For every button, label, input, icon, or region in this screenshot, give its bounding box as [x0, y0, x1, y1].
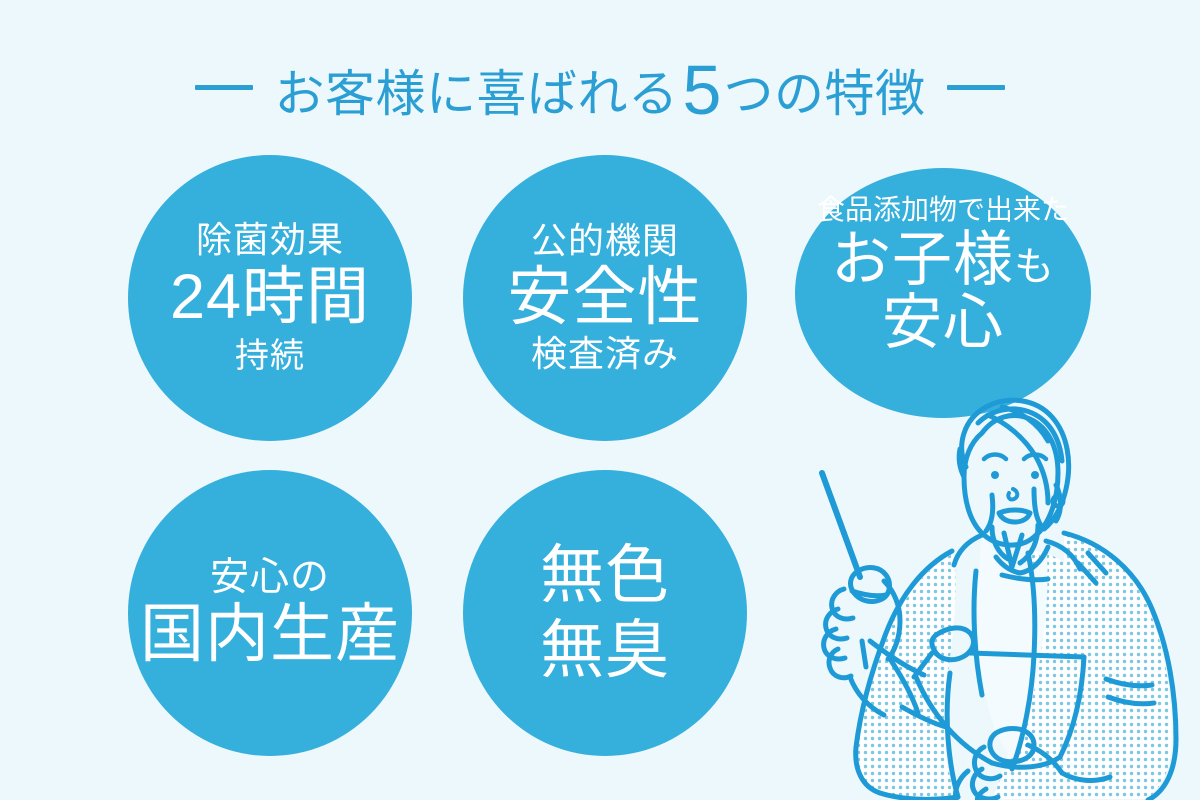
feature-1-bottom-label: 持続 — [235, 339, 305, 374]
woman-presenter-illustration — [806, 385, 1200, 800]
feature-circle-3: 食品添加物で出来た お子様も 安心 — [795, 168, 1091, 418]
feature-circle-2: 公的機関 安全性 検査済み — [463, 155, 747, 441]
title-number: 5 — [683, 55, 722, 125]
feature-2-main-label: 安全性 — [508, 265, 703, 330]
title-dash-right — [947, 85, 1005, 90]
woman-presenter-icon — [806, 385, 1200, 800]
feature-3-bottom-label: 安心 — [882, 292, 1004, 353]
title-suffix: つの特徴 — [723, 69, 925, 119]
feature-4-top-label: 安心の — [210, 558, 330, 598]
feature-2-top-label: 公的機関 — [531, 223, 679, 260]
feature-1-main-label: 24時間 — [170, 265, 370, 329]
feature-5-bottom-label: 無臭 — [540, 618, 670, 683]
title-dash-left — [195, 85, 253, 90]
feature-circle-5: 無色 無臭 — [463, 470, 747, 756]
feature-4-main-label: 国内生産 — [140, 602, 400, 667]
feature-3-main-suffix: も — [1014, 245, 1055, 289]
feature-2-bottom-label: 検査済み — [531, 336, 679, 373]
infographic-canvas: お客様に喜ばれる 5 つの特徴 除菌効果 24時間 持続 公的機関 安全性 検査… — [0, 0, 1200, 800]
feature-circle-4: 安心の 国内生産 — [128, 470, 412, 756]
page-title: お客様に喜ばれる 5 つの特徴 — [0, 48, 1200, 126]
title-prefix: お客様に喜ばれる — [275, 69, 679, 119]
feature-3-top-label: 食品添加物で出来た — [817, 196, 1069, 225]
feature-1-top-label: 除菌効果 — [196, 222, 344, 259]
feature-3-main-line: お子様も — [831, 229, 1055, 290]
feature-5-main-label: 無色 — [540, 543, 670, 608]
feature-3-main-label: お子様 — [831, 226, 1014, 293]
feature-circle-1: 除菌効果 24時間 持続 — [128, 155, 412, 441]
title-text: お客様に喜ばれる 5 つの特徴 — [275, 52, 926, 122]
